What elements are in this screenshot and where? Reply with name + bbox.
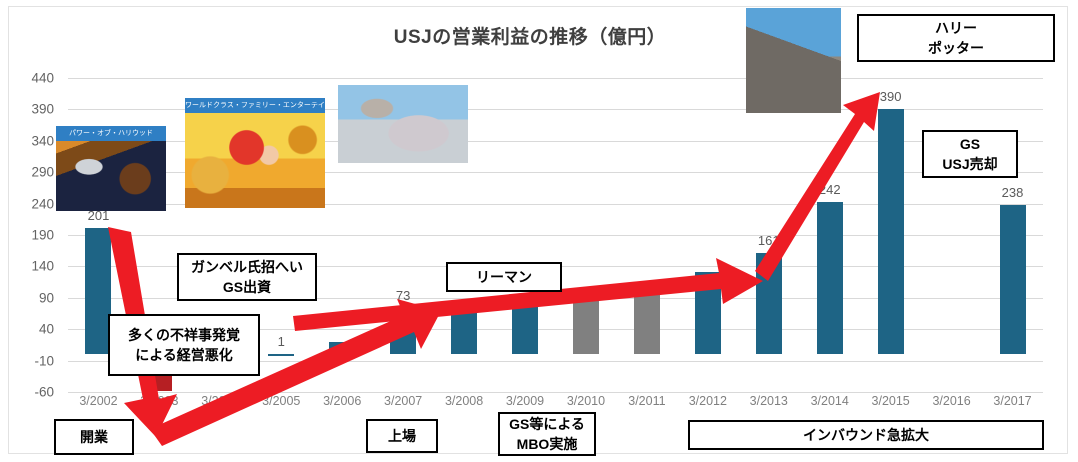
note-line: 上場: [388, 426, 416, 446]
note-line: ガンベル氏招へい: [191, 257, 303, 277]
note-fushouji: 多くの不祥事発覚 による経営悪化: [108, 314, 260, 376]
y-axis: 4403903402902401901409040-10-60: [8, 78, 54, 392]
y-axis-tick-label: 90: [8, 290, 54, 305]
photo-caption: ワールドクラス・ファミリー・エンターテイメント: [185, 98, 325, 113]
note-mbo: GS等による MBO実施: [498, 412, 596, 456]
bar-value-label: 242: [795, 182, 865, 197]
photo-power-of-hollywood: パワー・オブ・ハリウッド: [56, 126, 166, 211]
bar-value-label: 390: [856, 89, 926, 104]
bar-3-2015: [878, 109, 904, 354]
note-harry-potter: ハリー ポッター: [857, 14, 1055, 62]
y-axis-tick-label: 140: [8, 259, 54, 274]
note-line: GS等による: [509, 414, 585, 434]
bar-3-2010: [573, 298, 599, 355]
note-line: 多くの不祥事発覚: [128, 325, 240, 345]
note-inbound: インバウンド急拡大: [688, 420, 1044, 450]
note-line: MBO実施: [517, 434, 578, 454]
bar-3-2014: [817, 202, 843, 354]
note-line: ポッター: [928, 38, 984, 58]
bar-3-2005: [268, 354, 294, 356]
note-line: による経営悪化: [135, 345, 233, 365]
bar-3-2013: [756, 253, 782, 354]
y-axis-tick-label: 290: [8, 165, 54, 180]
bar-3-2007: [390, 308, 416, 354]
y-axis-tick-label: 190: [8, 228, 54, 243]
y-axis-tick-label: -60: [8, 385, 54, 400]
note-line: 開業: [80, 427, 108, 447]
y-axis-tick-label: 240: [8, 196, 54, 211]
page-title: USJの営業利益の推移（億円）: [330, 22, 730, 49]
bar-3-2008: [451, 302, 477, 354]
bar-value-label: 238: [978, 185, 1048, 200]
y-axis-tick-label: -10: [8, 353, 54, 368]
note-line: ハリー: [935, 18, 977, 38]
bar-3-2009: [512, 300, 538, 354]
note-jojo: 上場: [366, 419, 438, 453]
photo-roller-coaster: [338, 85, 468, 163]
note-line: インバウンド急拡大: [803, 425, 929, 445]
photo-hogwarts-castle: [746, 8, 841, 113]
bar-value-label: 161: [734, 233, 804, 248]
y-axis-tick-label: 440: [8, 71, 54, 86]
gridline: [68, 392, 1043, 393]
note-gs-baikyaku: GS USJ売却: [922, 130, 1018, 178]
y-axis-tick-label: 40: [8, 322, 54, 337]
y-axis-tick-label: 390: [8, 102, 54, 117]
bar-3-2011: [634, 291, 660, 354]
gridline: [68, 78, 1043, 79]
bar-3-2012: [695, 272, 721, 354]
note-gumpel: ガンベル氏招へい GS出資: [177, 253, 317, 301]
note-line: GS出資: [223, 277, 271, 297]
x-axis-tick-label: 3/2017: [974, 394, 1052, 408]
bar-3-2017: [1000, 205, 1026, 354]
bar-value-label: 73: [368, 288, 438, 303]
chart-screenshot: USJの営業利益の推移（億円） 440390340290240190140904…: [0, 0, 1078, 462]
note-line: GS: [960, 134, 980, 154]
note-line: USJ売却: [942, 154, 997, 174]
photo-caption: パワー・オブ・ハリウッド: [56, 126, 166, 141]
note-line: リーマン: [476, 267, 532, 287]
photo-world-class-family-entertainment: ワールドクラス・ファミリー・エンターテイメント: [185, 98, 325, 208]
note-kaigyo: 開業: [54, 419, 134, 455]
note-lehman: リーマン: [446, 262, 562, 292]
y-axis-tick-label: 340: [8, 133, 54, 148]
bar-3-2006: [329, 342, 355, 354]
